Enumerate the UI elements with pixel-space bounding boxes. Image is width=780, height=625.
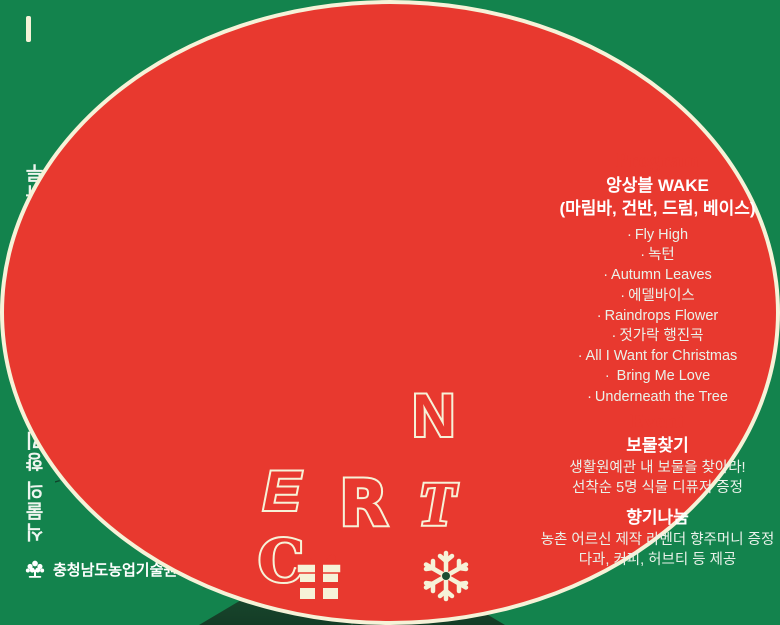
gift-box-icon bbox=[293, 552, 345, 600]
bullet-mark: · bbox=[620, 288, 625, 304]
song-title: Raindrops Flower bbox=[605, 308, 719, 324]
concert-letter-t: T bbox=[418, 474, 456, 536]
poster-canvas: 생활원예관 작은 음악회 2025.11. 24(월) 12:30~ 충청남도농… bbox=[0, 0, 780, 625]
event-detail: 선착순 5명 식물 디퓨저 증정 bbox=[535, 478, 780, 498]
ensemble-name: 앙상블 WAKE bbox=[535, 174, 780, 197]
list-item: ·Underneath the Tree bbox=[535, 387, 780, 407]
song-title: Fly High bbox=[635, 227, 688, 243]
list-item: ·All I Want for Christmas bbox=[535, 346, 780, 366]
ensemble-instruments: (마림바, 건반, 드럼, 베이스) bbox=[535, 197, 780, 220]
event-item-scent: 향기나눔 농촌 어르신 제작 라벤더 향주머니 증정 다과, 커피, 허브티 등… bbox=[535, 506, 780, 570]
letter-o-slash bbox=[26, 16, 31, 42]
list-item: ·녹턴 bbox=[535, 245, 780, 265]
event-heading: Event bbox=[535, 409, 780, 433]
list-item: ·Fly High bbox=[535, 225, 780, 245]
list-item: · Bring Me Love bbox=[535, 366, 780, 386]
list-item: ·에델바이스 bbox=[535, 286, 780, 306]
bullet-mark: · bbox=[612, 328, 617, 344]
bullet-mark: · bbox=[587, 389, 592, 405]
event-detail: 농촌 어르신 제작 라벤더 향주머니 증정 bbox=[535, 530, 780, 550]
bullet-mark: · bbox=[605, 368, 610, 384]
event-detail: 다과, 커피, 허브티 등 제공 bbox=[535, 550, 780, 570]
program-song-list: ·Fly High ·녹턴 ·Autumn Leaves ·에델바이스 ·Rai… bbox=[535, 225, 780, 407]
song-title: 젓가락 행진곡 bbox=[619, 328, 703, 344]
event-detail: 생활원예관 내 보물을 찾아라! bbox=[535, 458, 780, 478]
bullet-mark: · bbox=[578, 348, 583, 364]
song-title: Underneath the Tree bbox=[595, 389, 728, 405]
bullet-mark: · bbox=[603, 267, 608, 283]
list-item: ·Autumn Leaves bbox=[535, 265, 780, 285]
song-title: 녹턴 bbox=[648, 247, 675, 263]
bullet-mark: · bbox=[597, 308, 602, 324]
tree-emblem-icon bbox=[24, 558, 46, 580]
bullet-mark: · bbox=[640, 247, 645, 263]
song-title: Bring Me Love bbox=[613, 368, 711, 384]
program-heading: Program bbox=[535, 148, 780, 172]
concert-letter-e: E bbox=[263, 463, 300, 519]
concert-letter-n: N bbox=[412, 386, 455, 446]
concert-letter-r: R bbox=[339, 472, 388, 536]
event-title: 보물찾기 bbox=[535, 434, 780, 458]
event-item-treasure: 보물찾기 생활원예관 내 보물을 찾아라! 선착순 5명 식물 디퓨저 증정 bbox=[535, 434, 780, 498]
song-title: All I Want for Christmas bbox=[586, 348, 738, 364]
bullet-mark: · bbox=[627, 227, 632, 243]
song-title: Autumn Leaves bbox=[611, 267, 712, 283]
list-item: ·Raindrops Flower bbox=[535, 306, 780, 326]
event-title: 향기나눔 bbox=[535, 506, 780, 530]
info-column: Program 앙상블 WAKE (마림바, 건반, 드럼, 베이스) ·Fly… bbox=[535, 148, 780, 572]
snowflake-icon bbox=[420, 550, 472, 602]
song-title: 에델바이스 bbox=[628, 288, 695, 304]
list-item: ·젓가락 행진곡 bbox=[535, 326, 780, 346]
